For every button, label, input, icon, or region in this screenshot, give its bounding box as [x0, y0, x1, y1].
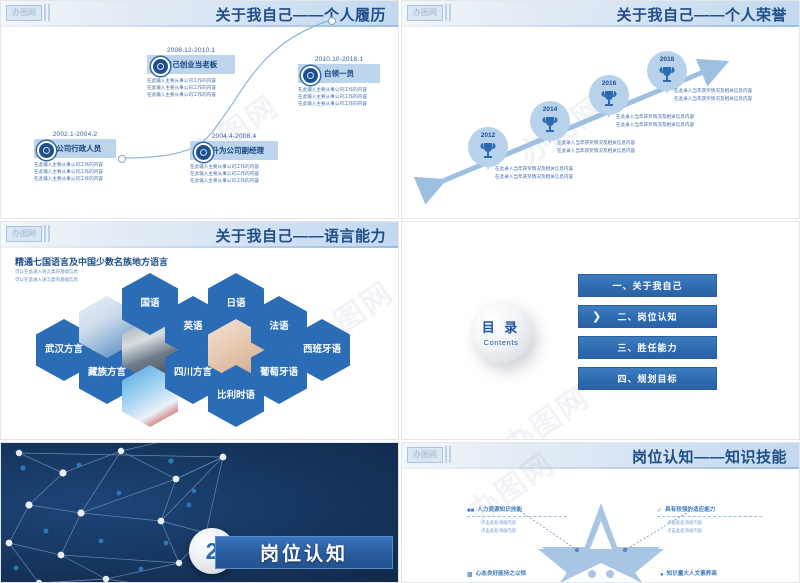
desc-line: 在此输入主要从事公司工作的内容	[190, 163, 278, 170]
honor-desc: 在此录入当年获奖情况及相关信息内容 在此录入当年获奖情况及相关信息内容	[616, 113, 694, 128]
timeline-node-icon	[151, 57, 170, 76]
slide-honors[interactable]: 办图网 关于我自己——个人荣誉 办图网 2012 在此录入当年获奖情况及相关信息…	[401, 0, 800, 219]
contents-badge: 目 录 Contents	[470, 301, 532, 363]
timeline-desc: 在此输入主要从事公司工作的内容 在此输入主要从事公司工作的内容 在此输入主要从事…	[298, 86, 380, 107]
slide-language[interactable]: 办图网 关于我自己——语言能力 办图网 精通七国语言及中国少数名族地方语言 可以…	[0, 221, 399, 440]
bar-chart-icon: ▩	[467, 571, 473, 578]
toc-item-1[interactable]: 一、关于我自己	[578, 274, 717, 297]
section-background: 2 岗位认知	[1, 443, 399, 583]
desc-line: 在此输入主要从事公司工作的内容	[147, 77, 235, 84]
honor-pin[interactable]: 2018	[647, 51, 687, 91]
timeline-desc: 在此输入主要从事公司工作的内容 在此输入主要从事公司工作的内容 在此输入主要从事…	[147, 77, 235, 98]
desc-line: 在此输入主要从事公司工作的内容	[298, 93, 380, 100]
toc-label: 四、规划目标	[617, 372, 677, 385]
contents-subtitle: Contents	[484, 338, 519, 347]
skill-title: ✓具有较强的适应能力	[657, 505, 762, 514]
skill-label-mindset[interactable]: ▩心态良好能持之以恒	[467, 569, 526, 578]
toc-item-2[interactable]: ❯ 二、岗位认知	[578, 305, 717, 328]
desc-line: 在此输入主要从事公司工作的内容	[298, 86, 380, 93]
desc-line: 在此录入当年获奖情况及相关信息内容	[557, 139, 635, 147]
timeline-node-icon	[37, 141, 56, 160]
desc-line: 在此输入主要从事公司工作的内容	[34, 161, 116, 168]
timeline-desc: 在此输入主要从事公司工作的内容 在此输入主要从事公司工作的内容 在此输入主要从事…	[34, 161, 116, 182]
slide-skills[interactable]: 办图网 岗位认知——知识技能 办图网 ■■人力资源知识技能 点击此处添加内容	[401, 442, 800, 583]
skill-desc: 点击此处添加内容 点击此处添加内容	[657, 516, 762, 535]
honor-year: 2014	[530, 106, 570, 113]
slide-section-divider[interactable]: 2 岗位认知	[0, 442, 399, 583]
skill-desc: 点击此处添加内容 点击此处添加内容	[467, 516, 567, 535]
trophy-icon	[480, 141, 496, 161]
desc-line: 在此录入当年获奖情况及相关信息内容	[674, 95, 752, 103]
desc-line: 在此输入主要从事公司工作的内容	[34, 175, 116, 182]
desc-line: 在此输入主要从事公司工作的内容	[298, 100, 380, 107]
desc-line: 在此录入当年获奖情况及相关信息内容	[616, 113, 694, 121]
desc-line: 在此输入主要从事公司工作的内容	[147, 91, 235, 98]
desc-line: 在此输入主要从事公司工作的内容	[190, 170, 278, 177]
desc-line: 在此输入主要从事公司工作的内容	[190, 177, 278, 184]
chevron-right-icon: ❯	[592, 310, 601, 323]
trophy-icon	[601, 89, 617, 109]
honor-desc: 在此录入当年获奖情况及相关信息内容 在此录入当年获奖情况及相关信息内容	[557, 139, 635, 154]
desc-line: 点击此处添加内容	[467, 519, 567, 527]
honor-year: 2018	[647, 56, 687, 63]
section-title: 岗位认知	[260, 539, 348, 566]
toc-label: 三、胜任能力	[617, 341, 677, 354]
skill-label-adapt[interactable]: ✓具有较强的适应能力 点击此处添加内容 点击此处添加内容	[657, 505, 762, 535]
timeline-endpoint	[328, 17, 336, 25]
timeline-date: 2008.12-2010.1	[147, 47, 235, 54]
desc-line: 在此录入当年获奖情况及相关信息内容	[616, 121, 694, 129]
honor-pin[interactable]: 2016	[589, 75, 629, 115]
honor-pin[interactable]: 2012	[468, 127, 508, 167]
honor-year: 2016	[589, 80, 629, 87]
honor-year: 2012	[468, 132, 508, 139]
slide-contents[interactable]: 办图网 目 录 Contents 一、关于我自己 ❯ 二、岗位认知 三、胜任能力…	[401, 221, 800, 440]
desc-line: 在此录入当年获奖情况及相关信息内容	[495, 165, 573, 173]
desc-line: 在此录入当年获奖情况及相关信息内容	[495, 173, 573, 181]
contents-title: 目 录	[482, 317, 521, 336]
desc-line: 点击此处添加内容	[467, 527, 567, 535]
trophy-icon	[542, 115, 558, 135]
skill-label-hr[interactable]: ■■人力资源知识技能 点击此处添加内容 点击此处添加内容	[467, 505, 567, 535]
timeline-curve	[1, 1, 399, 219]
honor-desc: 在此录入当年获奖情况及相关信息内容 在此录入当年获奖情况及相关信息内容	[674, 87, 752, 102]
section-title-bar: 岗位认知	[215, 536, 393, 569]
slide-resume[interactable]: 办图网 关于我自己——个人履历 办图网 2002.1-2004.2 任公司行政人…	[0, 0, 399, 219]
desc-line: 在此输入主要从事公司工作的内容	[147, 84, 235, 91]
timeline-date: 2004.4-2008.4	[190, 133, 278, 140]
skill-label-knowledge[interactable]: ●知识量大人文素养高	[660, 569, 717, 578]
grid-squares-icon: ■■	[467, 508, 474, 514]
slide-grid: 办图网 关于我自己——个人履历 办图网 2002.1-2004.2 任公司行政人…	[0, 0, 800, 583]
timeline-node-icon	[301, 66, 320, 85]
desc-line: 在此输入主要从事公司工作的内容	[34, 168, 116, 175]
skill-title: ●知识量大人文素养高	[660, 569, 717, 578]
desc-line: 在此录入当年获奖情况及相关信息内容	[557, 147, 635, 155]
timeline-desc: 在此输入主要从事公司工作的内容 在此输入主要从事公司工作的内容 在此输入主要从事…	[190, 163, 278, 184]
honor-desc: 在此录入当年获奖情况及相关信息内容 在此录入当年获奖情况及相关信息内容	[495, 165, 573, 180]
timeline-node-icon	[194, 143, 213, 162]
hexagon-cluster: 武汉方言 藏族方言 国语 英语 四川方言 日语 比利时语 法语 葡萄牙语 西班牙…	[1, 222, 399, 440]
timeline-date: 2010.10-2018.1	[298, 56, 380, 63]
timeline-date: 2002.1-2004.2	[34, 131, 116, 138]
check-mark-icon: ✓	[657, 507, 662, 514]
trophy-icon	[659, 65, 675, 85]
toc-label: 一、关于我自己	[612, 279, 682, 292]
pie-chart-icon: ●	[660, 572, 664, 578]
toc-item-3[interactable]: 三、胜任能力	[578, 336, 717, 359]
desc-line: 在此录入当年获奖情况及相关信息内容	[674, 87, 752, 95]
desc-line: 点击此处添加内容	[657, 519, 762, 527]
skill-title: ▩心态良好能持之以恒	[467, 569, 526, 578]
toc-item-4[interactable]: 四、规划目标	[578, 367, 717, 390]
skill-title: ■■人力资源知识技能	[467, 505, 567, 514]
desc-line: 点击此处添加内容	[657, 527, 762, 535]
timeline-endpoint	[118, 155, 126, 163]
toc-label: 二、岗位认知	[617, 310, 677, 323]
honor-pin[interactable]: 2014	[530, 101, 570, 141]
